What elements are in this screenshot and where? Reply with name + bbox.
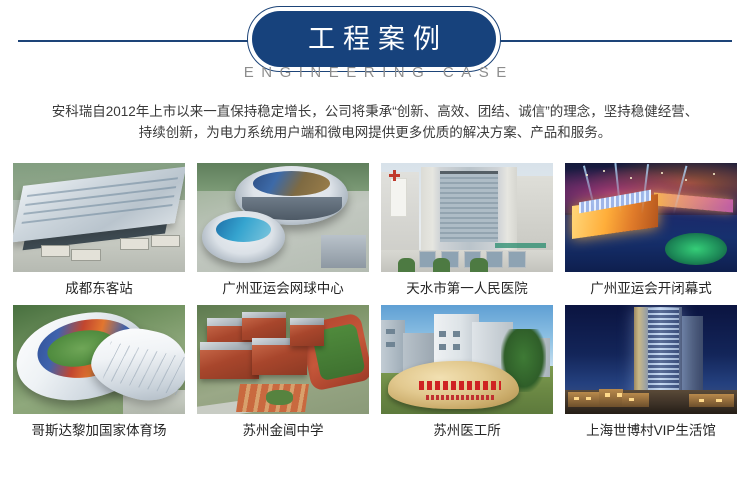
monument-red-inscription xyxy=(419,381,502,390)
haixinsha-island xyxy=(665,233,727,266)
case-thumbnail-costa-rica-stadium[interactable] xyxy=(13,305,185,414)
case-card[interactable]: 苏州医工所 xyxy=(381,305,553,447)
tower-glass-facade xyxy=(648,308,679,400)
case-caption: 成都东客站 xyxy=(13,272,185,305)
side-building xyxy=(321,235,366,268)
secondary-arena xyxy=(202,211,285,263)
vip-tower xyxy=(634,307,682,403)
case-caption: 天水市第一人民医院 xyxy=(381,272,553,305)
case-card[interactable]: 广州亚运会网球中心 xyxy=(197,163,369,305)
red-cross-icon xyxy=(389,170,400,181)
canopy-a xyxy=(41,245,71,257)
case-card[interactable]: 上海世博村VIP生活馆 xyxy=(565,305,737,447)
case-caption: 广州亚运会开闭幕式 xyxy=(565,272,737,305)
case-card[interactable]: 成都东客站 xyxy=(13,163,185,305)
page-title: 工程案例 xyxy=(300,26,448,53)
case-thumbnail-shanghai-expo-vip[interactable] xyxy=(565,305,737,414)
case-caption: 苏州金阊中学 xyxy=(197,414,369,447)
canopy-c xyxy=(120,238,150,250)
intro-paragraph: 安科瑞自2012年上市以来一直保持稳定增长，公司将秉承“创新、高效、团结、诚信”… xyxy=(14,95,736,143)
case-caption: 上海世博村VIP生活馆 xyxy=(565,414,737,447)
case-thumbnail-chengdu-east-station[interactable] xyxy=(13,163,185,272)
hospital-tower xyxy=(421,167,517,254)
right-wing xyxy=(515,176,553,252)
central-lawn xyxy=(266,390,294,405)
monument-sub-inscription xyxy=(426,395,495,399)
case-card[interactable]: 天水市第一人民医院 xyxy=(381,163,553,305)
intro-line-2: 持续创新，为电力系统用户端和微电网提供更多优质的解决方案、产品和服务。 xyxy=(14,122,736,143)
case-caption: 哥斯达黎加国家体育场 xyxy=(13,414,185,447)
case-thumbnail-tianshui-hospital[interactable] xyxy=(381,163,553,272)
stadium-bowl xyxy=(253,171,330,196)
case-caption: 苏州医工所 xyxy=(381,414,553,447)
case-card[interactable]: 广州亚运会开闭幕式 xyxy=(565,163,737,305)
case-thumbnail-guangzhou-tennis-center[interactable] xyxy=(197,163,369,272)
arena-court xyxy=(216,217,270,242)
tower-curtain-wall xyxy=(440,174,498,242)
case-caption: 广州亚运会网球中心 xyxy=(197,272,369,305)
case-thumbnail-asian-games-ceremony[interactable] xyxy=(565,163,737,272)
case-grid: 成都东客站 广州亚运会网球中心 xyxy=(13,163,737,447)
canopy-d xyxy=(151,235,181,247)
case-thumbnail-suzhou-medical-institute[interactable] xyxy=(381,305,553,414)
case-card[interactable]: 苏州金阊中学 xyxy=(197,305,369,447)
page-header: 工程案例 ENGINEERING CASE xyxy=(0,0,750,95)
intro-line-1: 安科瑞自2012年上市以来一直保持稳定增长，公司将秉承“创新、高效、团结、诚信”… xyxy=(14,101,736,122)
vertical-sign-board xyxy=(390,178,407,217)
case-thumbnail-suzhou-jinchang-school[interactable] xyxy=(197,305,369,414)
badge-inner-fill: 工程案例 xyxy=(252,11,496,67)
page-subtitle: ENGINEERING CASE xyxy=(0,64,750,81)
case-card[interactable]: 哥斯达黎加国家体育场 xyxy=(13,305,185,447)
engineering-case-page: 工程案例 ENGINEERING CASE 安科瑞自2012年上市以来一直保持稳… xyxy=(0,0,750,477)
green-signage xyxy=(495,243,547,248)
canopy-b xyxy=(71,249,101,261)
